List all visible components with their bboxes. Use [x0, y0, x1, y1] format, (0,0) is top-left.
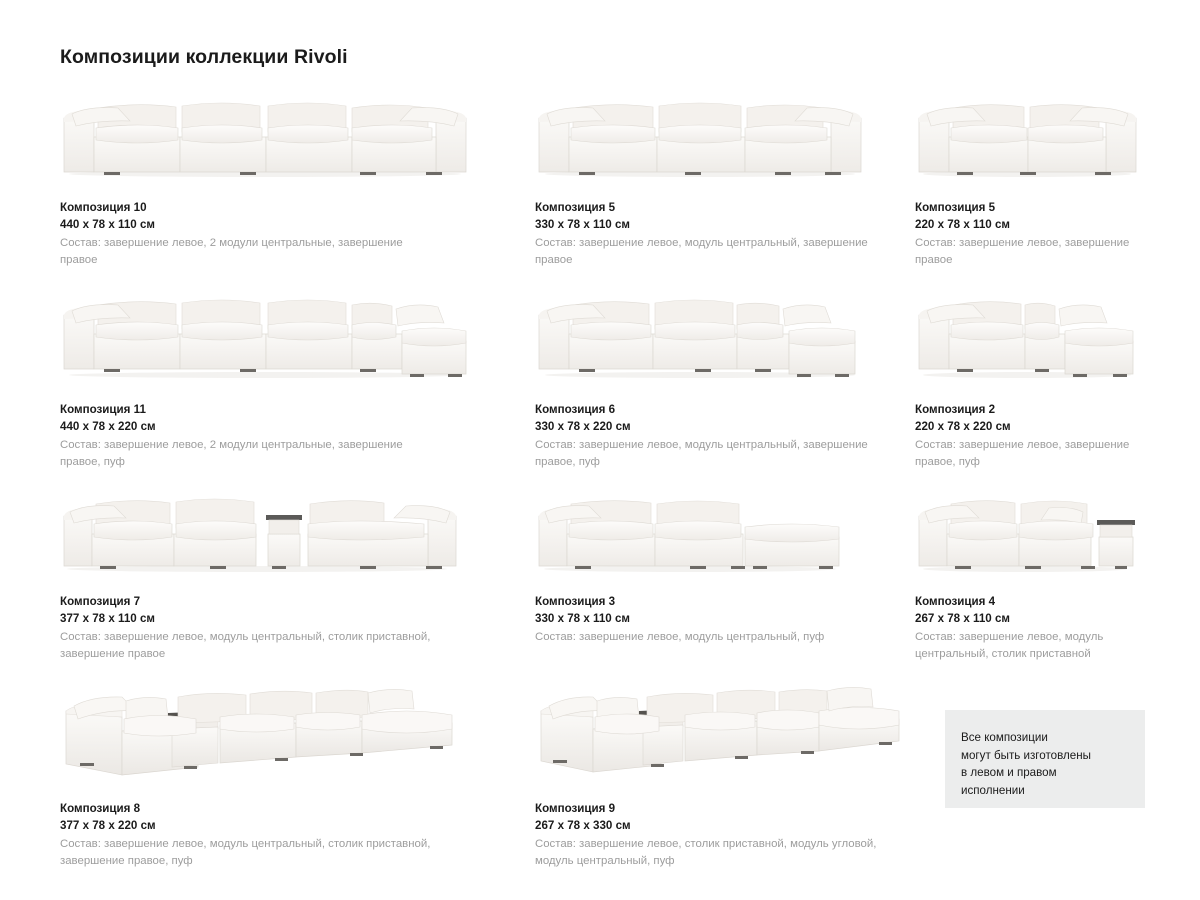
composition-description: Состав: завершение левое, завершение пра…: [915, 437, 1130, 471]
sofa-2-seat-straight-figure: [915, 88, 1144, 178]
composition-name: Композиция 7: [60, 594, 480, 611]
composition-dimensions: 220 x 78 x 220 см: [915, 419, 1144, 436]
sofa-corner-perspective-table-figure: [60, 679, 480, 779]
composition-caption: Композиция 10 440 x 78 x 110 см Состав: …: [60, 200, 480, 269]
composition-dimensions: 267 x 78 x 110 см: [915, 611, 1144, 628]
composition-caption: Композиция 2 220 x 78 x 220 см Состав: з…: [915, 402, 1144, 471]
composition-name: Композиция 9: [535, 801, 935, 818]
composition-caption: Композиция 8 377 x 78 x 220 см Состав: з…: [60, 801, 480, 870]
composition-name: Композиция 3: [535, 594, 895, 611]
composition-card[interactable]: Композиция 5 220 x 78 x 110 см Состав: з…: [915, 88, 1144, 269]
composition-name: Композиция 8: [60, 801, 480, 818]
sofa-4-seat-with-ottoman-figure: [60, 285, 480, 380]
note-box: Все композиции могут быть изготовлены в …: [945, 710, 1145, 808]
composition-caption: Композиция 5 220 x 78 x 110 см Состав: з…: [915, 200, 1144, 269]
composition-caption: Композиция 9 267 x 78 x 330 см Состав: з…: [535, 801, 935, 870]
composition-dimensions: 377 x 78 x 110 см: [60, 611, 480, 628]
sofa-2-seat-with-side-table-figure: [915, 482, 1144, 574]
sofa-3-seat-with-ottoman-figure: [535, 285, 875, 380]
page-title: Композиции коллекции Rivoli: [60, 46, 348, 69]
composition-description: Состав: завершение левое, модуль централ…: [535, 629, 895, 646]
sofa-corner-perspective-large-figure: [535, 679, 935, 779]
composition-dimensions: 440 x 78 x 110 см: [60, 217, 480, 234]
composition-caption: Композиция 6 330 x 78 x 220 см Состав: з…: [535, 402, 875, 471]
composition-card[interactable]: Композиция 9 267 x 78 x 330 см Состав: з…: [535, 679, 935, 870]
composition-description: Состав: завершение левое, 2 модули центр…: [60, 437, 412, 471]
composition-dimensions: 377 x 78 x 220 см: [60, 818, 480, 835]
composition-description: Состав: завершение левое, модуль централ…: [60, 836, 438, 870]
composition-description: Состав: завершение левое, столик пристав…: [535, 836, 885, 870]
composition-description: Состав: завершение левое, модуль централ…: [60, 629, 438, 663]
sofa-2-seat-with-ottoman-figure: [915, 285, 1144, 380]
composition-caption: Композиция 11 440 x 78 x 220 см Состав: …: [60, 402, 480, 471]
composition-name: Композиция 4: [915, 594, 1144, 611]
catalog-page: Композиции коллекции Rivoli: [0, 0, 1200, 900]
composition-caption: Композиция 7 377 x 78 x 110 см Состав: з…: [60, 594, 480, 663]
composition-description: Состав: завершение левое, модуль централ…: [915, 629, 1144, 663]
composition-card[interactable]: Композиция 4 267 x 78 x 110 см Состав: з…: [915, 482, 1144, 663]
sofa-3-seat-straight-figure: [535, 88, 875, 178]
composition-name: Композиция 5: [915, 200, 1144, 217]
composition-name: Композиция 5: [535, 200, 875, 217]
composition-row: Композиция 7 377 x 78 x 110 см Состав: з…: [60, 482, 1144, 679]
composition-caption: Композиция 3 330 x 78 x 110 см Состав: з…: [535, 594, 895, 646]
note-text: Все композиции могут быть изготовлены в …: [961, 729, 1091, 799]
composition-card[interactable]: Композиция 3 330 x 78 x 110 см Состав: з…: [535, 482, 895, 646]
composition-row: Композиция 11 440 x 78 x 220 см Состав: …: [60, 285, 1144, 482]
composition-description: Состав: завершение левое, 2 модули центр…: [60, 235, 412, 269]
composition-dimensions: 220 x 78 x 110 см: [915, 217, 1144, 234]
sofa-4-seat-straight-figure: [60, 88, 480, 178]
composition-card[interactable]: Композиция 7 377 x 78 x 110 см Состав: з…: [60, 482, 480, 663]
composition-name: Композиция 6: [535, 402, 875, 419]
composition-description: Состав: завершение левое, модуль централ…: [535, 235, 875, 269]
sofa-2-seat-with-ottoman-right-figure: [535, 482, 895, 574]
composition-card[interactable]: Композиция 6 330 x 78 x 220 см Состав: з…: [535, 285, 875, 471]
composition-name: Композиция 2: [915, 402, 1144, 419]
composition-card[interactable]: Композиция 11 440 x 78 x 220 см Состав: …: [60, 285, 480, 471]
composition-dimensions: 330 x 78 x 110 см: [535, 611, 895, 628]
composition-row: Композиция 10 440 x 78 x 110 см Состав: …: [60, 88, 1144, 285]
composition-dimensions: 330 x 78 x 110 см: [535, 217, 875, 234]
composition-description: Состав: завершение левое, завершение пра…: [915, 235, 1130, 269]
composition-dimensions: 267 x 78 x 330 см: [535, 818, 935, 835]
composition-description: Состав: завершение левое, модуль централ…: [535, 437, 875, 471]
composition-card[interactable]: Композиция 10 440 x 78 x 110 см Состав: …: [60, 88, 480, 269]
composition-card[interactable]: Композиция 8 377 x 78 x 220 см Состав: з…: [60, 679, 480, 870]
composition-name: Композиция 11: [60, 402, 480, 419]
sofa-3-seat-with-table-figure: [60, 482, 480, 574]
composition-card[interactable]: Композиция 5 330 x 78 x 110 см Состав: з…: [535, 88, 875, 269]
composition-dimensions: 440 x 78 x 220 см: [60, 419, 480, 436]
composition-card[interactable]: Композиция 2 220 x 78 x 220 см Состав: з…: [915, 285, 1144, 471]
composition-name: Композиция 10: [60, 200, 480, 217]
composition-caption: Композиция 4 267 x 78 x 110 см Состав: з…: [915, 594, 1144, 663]
composition-caption: Композиция 5 330 x 78 x 110 см Состав: з…: [535, 200, 875, 269]
composition-dimensions: 330 x 78 x 220 см: [535, 419, 875, 436]
